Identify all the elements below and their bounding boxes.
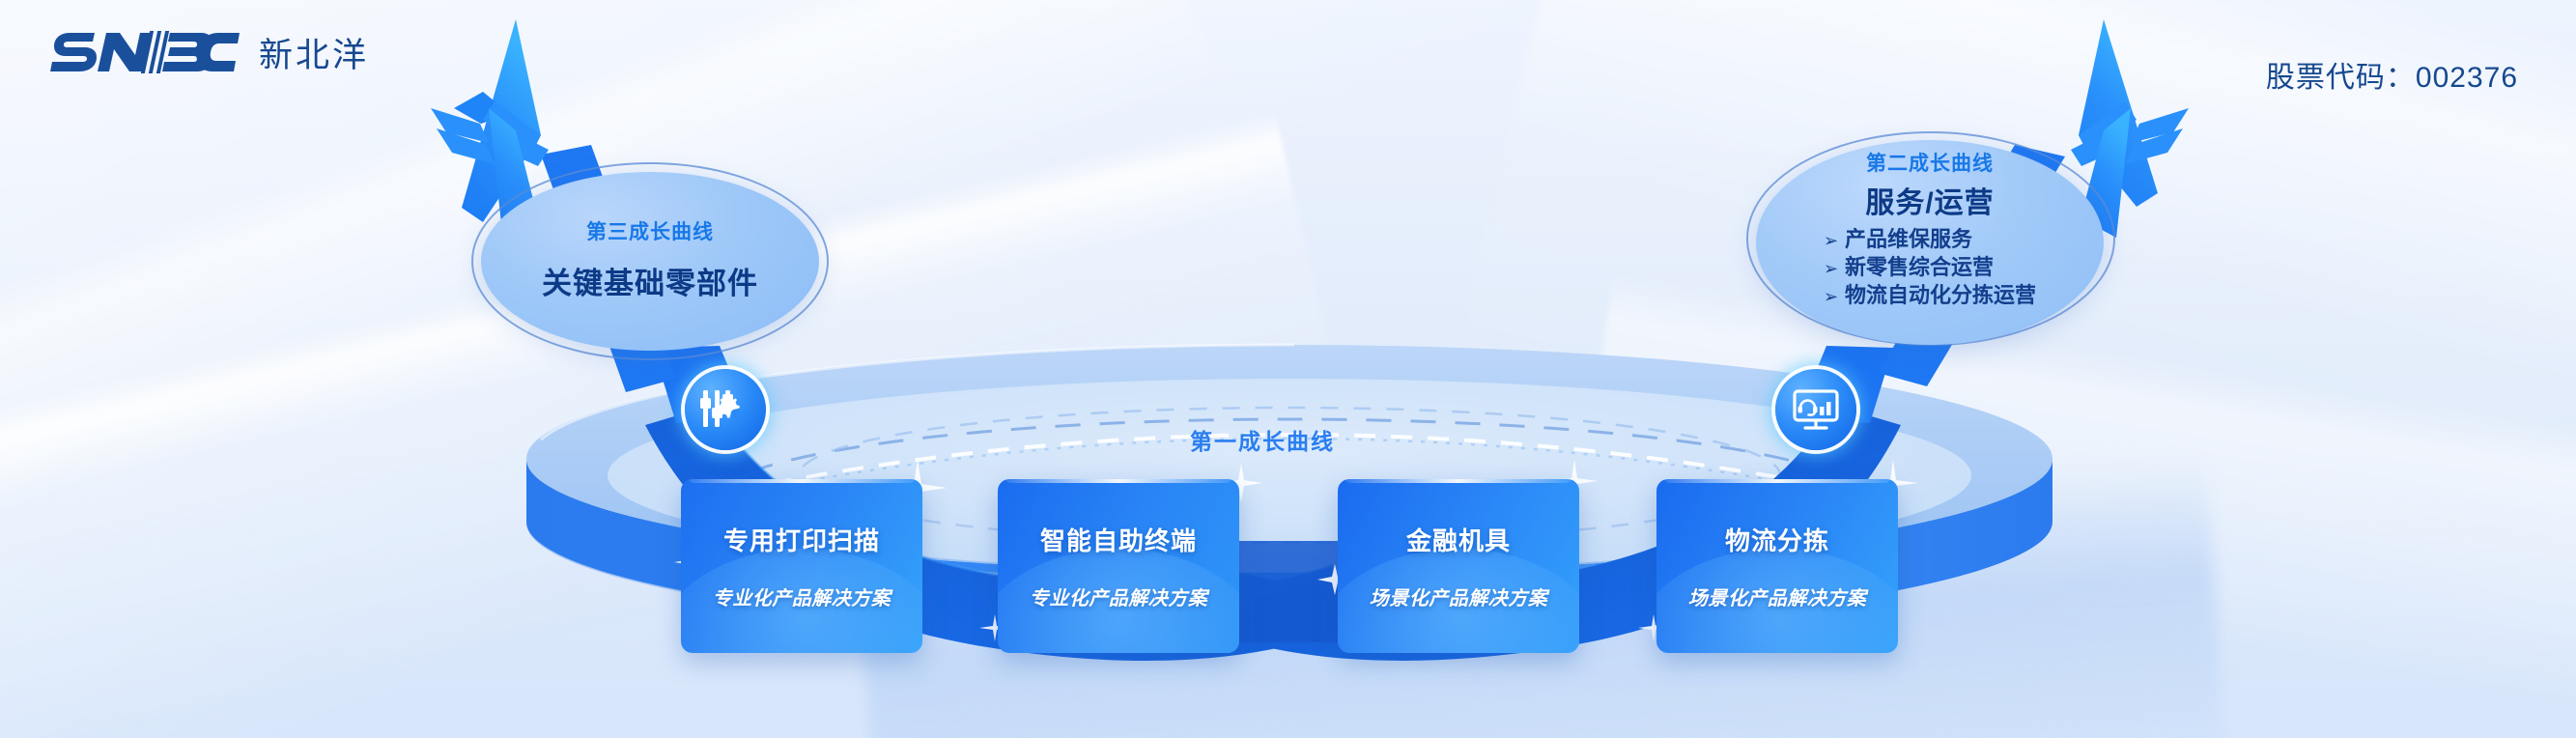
third-growth-curve-bubble[interactable]: 第三成长曲线 关键基础零部件 [481,172,819,351]
product-card[interactable]: 物流分拣 场景化产品解决方案 [1656,479,1898,653]
card-subtitle: 专业化产品解决方案 [713,582,892,610]
second-curve-sublabel: 第二成长曲线 [1866,152,1994,177]
card-top-edge [1005,479,1231,483]
brand-logo: 新北洋 [50,27,369,77]
card-title: 智能自助终端 [1040,522,1197,557]
list-item-label: 物流自动化分拣运营 [1845,281,2036,309]
product-card[interactable]: 金融机具 场景化产品解决方案 [1338,479,1579,653]
third-curve-sublabel: 第三成长曲线 [586,220,714,245]
product-card[interactable]: 智能自助终端 专业化产品解决方案 [998,479,1239,653]
card-subtitle: 场景化产品解决方案 [1688,582,1867,610]
second-growth-curve-bubble[interactable]: 第二成长曲线 服务/运营 ➢ 产品维保服务 ➢ 新零售综合运营 ➢ 物流自动化分… [1756,140,2104,345]
card-subtitle: 场景化产品解决方案 [1370,582,1548,610]
monitor-headset-chart-icon[interactable] [1775,369,1856,450]
scene-graphics [0,0,2576,738]
card-top-edge [689,479,915,483]
list-item: ➢ 产品维保服务 [1824,225,2036,253]
list-item: ➢ 新零售综合运营 [1824,253,2036,281]
center-link-band [1238,541,1340,642]
second-curve-title: 服务/运营 [1865,179,1994,221]
product-card[interactable]: 专用打印扫描 专业化产品解决方案 [681,479,922,653]
list-item-label: 产品维保服务 [1845,225,1972,253]
stock-code-label: 股票代码：002376 [2266,53,2518,96]
card-title: 专用打印扫描 [723,522,880,557]
brand-logo-cn: 新北洋 [259,28,369,77]
bullet-arrow-icon: ➢ [1824,230,1838,253]
bullet-arrow-icon: ➢ [1824,258,1838,281]
card-subtitle: 专业化产品解决方案 [1030,582,1208,610]
list-item-label: 新零售综合运营 [1845,253,1994,281]
monitor-headset-chart-glyph [1791,386,1841,433]
second-curve-item-list: ➢ 产品维保服务 ➢ 新零售综合运营 ➢ 物流自动化分拣运营 [1824,225,2036,309]
snbc-logo-icon [50,27,243,77]
third-curve-title: 关键基础零部件 [542,259,758,302]
card-title: 金融机具 [1406,522,1511,557]
poster-canvas: 新北洋 股票代码：002376 第三成长曲线 关键基础零部件 第二成长曲线 服务… [0,0,2576,738]
card-title: 物流分拣 [1725,522,1829,557]
sliders-gear-glyph [700,386,750,433]
sliders-gear-icon[interactable] [685,369,766,450]
bullet-arrow-icon: ➢ [1824,286,1838,309]
card-top-edge [1664,479,1890,483]
card-top-edge [1345,479,1571,483]
list-item: ➢ 物流自动化分拣运营 [1824,281,2036,309]
first-curve-label: 第一成长曲线 [1190,423,1335,456]
